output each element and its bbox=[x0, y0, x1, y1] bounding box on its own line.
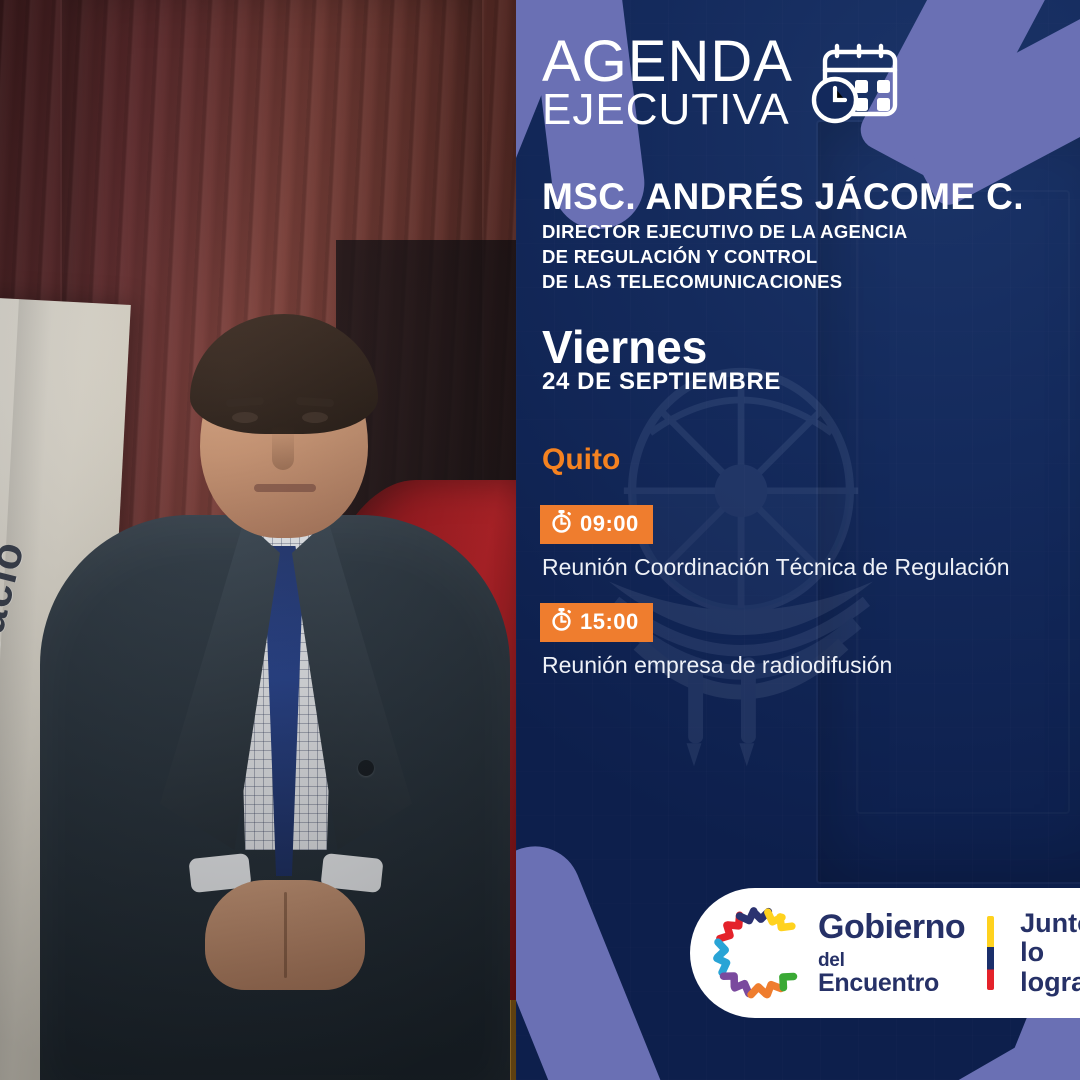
agenda-card: nicacio bbox=[0, 0, 1080, 1080]
date-weekday: Viernes bbox=[542, 320, 707, 374]
role-line-2: DE REGULACIÓN Y CONTROL bbox=[542, 245, 908, 270]
header-block: AGENDA EJECUTIVA bbox=[542, 34, 907, 133]
chevron-burst-icon bbox=[712, 906, 806, 1000]
header-line-ejecutiva: EJECUTIVA bbox=[542, 89, 793, 131]
official-name: MSC. ANDRÉS JÁCOME C. bbox=[542, 176, 1024, 218]
event-time: 15:00 bbox=[580, 609, 639, 635]
logo-brand-encuentro: Encuentro bbox=[818, 969, 939, 997]
event-time-badge: 09:00 bbox=[540, 505, 653, 544]
event-item: 09:00 Reunión Coordinación Técnica de Re… bbox=[540, 505, 1060, 581]
logo-brand-line-1: Gobierno bbox=[818, 908, 965, 946]
info-panel: AGENDA EJECUTIVA bbox=[516, 0, 1080, 1080]
gobierno-logo: Gobierno del Encuentro Juntos lo logramo… bbox=[690, 888, 1080, 1018]
stopwatch-icon bbox=[551, 510, 572, 538]
date-full: 24 DE SEPTIEMBRE bbox=[542, 368, 781, 396]
calendar-clock-icon bbox=[811, 42, 907, 133]
header-line-agenda: AGENDA bbox=[542, 34, 793, 89]
event-item: 15:00 Reunión empresa de radiodifusión bbox=[540, 603, 1060, 679]
event-time: 09:00 bbox=[580, 511, 639, 537]
stopwatch-icon bbox=[551, 608, 572, 636]
official-role: DIRECTOR EJECUTIVO DE LA AGENCIA DE REGU… bbox=[542, 220, 908, 294]
official-photo: nicacio bbox=[0, 0, 516, 1080]
role-line-3: DE LAS TELECOMUNICACIONES bbox=[542, 270, 908, 295]
header-title: AGENDA EJECUTIVA bbox=[542, 34, 793, 131]
event-title: Reunión empresa de radiodifusión bbox=[540, 652, 1060, 679]
events-list: 09:00 Reunión Coordinación Técnica de Re… bbox=[540, 505, 1060, 701]
logo-wordmark: Gobierno del Encuentro bbox=[818, 910, 965, 996]
photo-vignette bbox=[0, 0, 516, 1080]
logo-slogan: Juntos lo logramos bbox=[1020, 909, 1080, 996]
logo-brand-del: del bbox=[818, 950, 845, 971]
logo-brand-line-2: del Encuentro bbox=[818, 946, 965, 996]
location-city: Quito bbox=[542, 443, 620, 477]
slogan-line-2: lo logramos bbox=[1020, 938, 1080, 996]
event-time-badge: 15:00 bbox=[540, 603, 653, 642]
slogan-line-1: Juntos bbox=[1020, 909, 1080, 938]
event-title: Reunión Coordinación Técnica de Regulaci… bbox=[540, 554, 1060, 581]
ecuador-flag-divider bbox=[987, 916, 994, 990]
role-line-1: DIRECTOR EJECUTIVO DE LA AGENCIA bbox=[542, 220, 908, 245]
